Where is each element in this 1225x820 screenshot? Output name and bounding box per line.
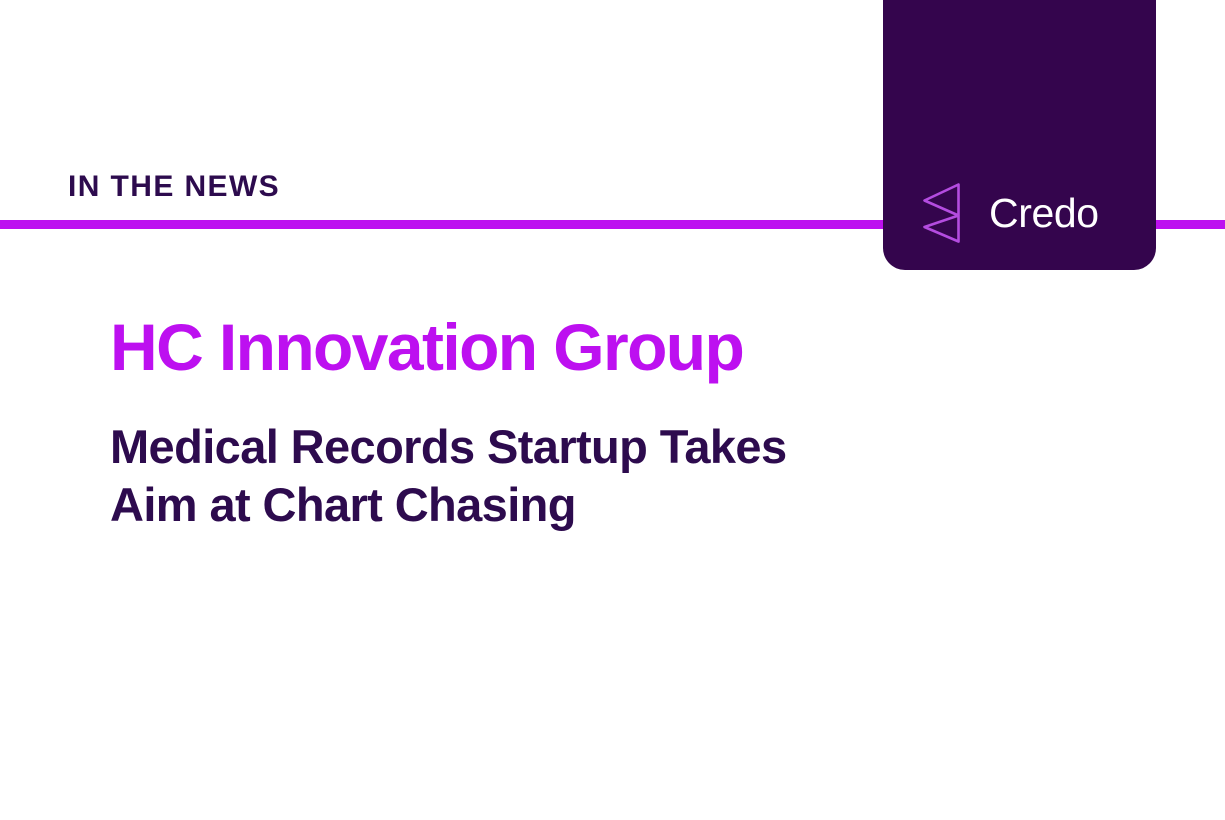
article-title-line-1: Medical Records Startup Takes <box>110 418 870 476</box>
brand-lockup: Credo <box>921 182 1099 244</box>
article-title: Medical Records Startup Takes Aim at Cha… <box>110 418 870 535</box>
credo-bowtie-mark-icon <box>921 182 967 244</box>
article-title-line-2: Aim at Chart Chasing <box>110 476 870 534</box>
brand-name: Credo <box>989 193 1099 234</box>
eyebrow-label: IN THE NEWS <box>68 172 280 202</box>
brand-panel: Credo <box>883 0 1156 270</box>
article-source: HC Innovation Group <box>110 312 743 383</box>
news-card: IN THE NEWS Credo HC Innovation Group Me… <box>0 0 1225 820</box>
